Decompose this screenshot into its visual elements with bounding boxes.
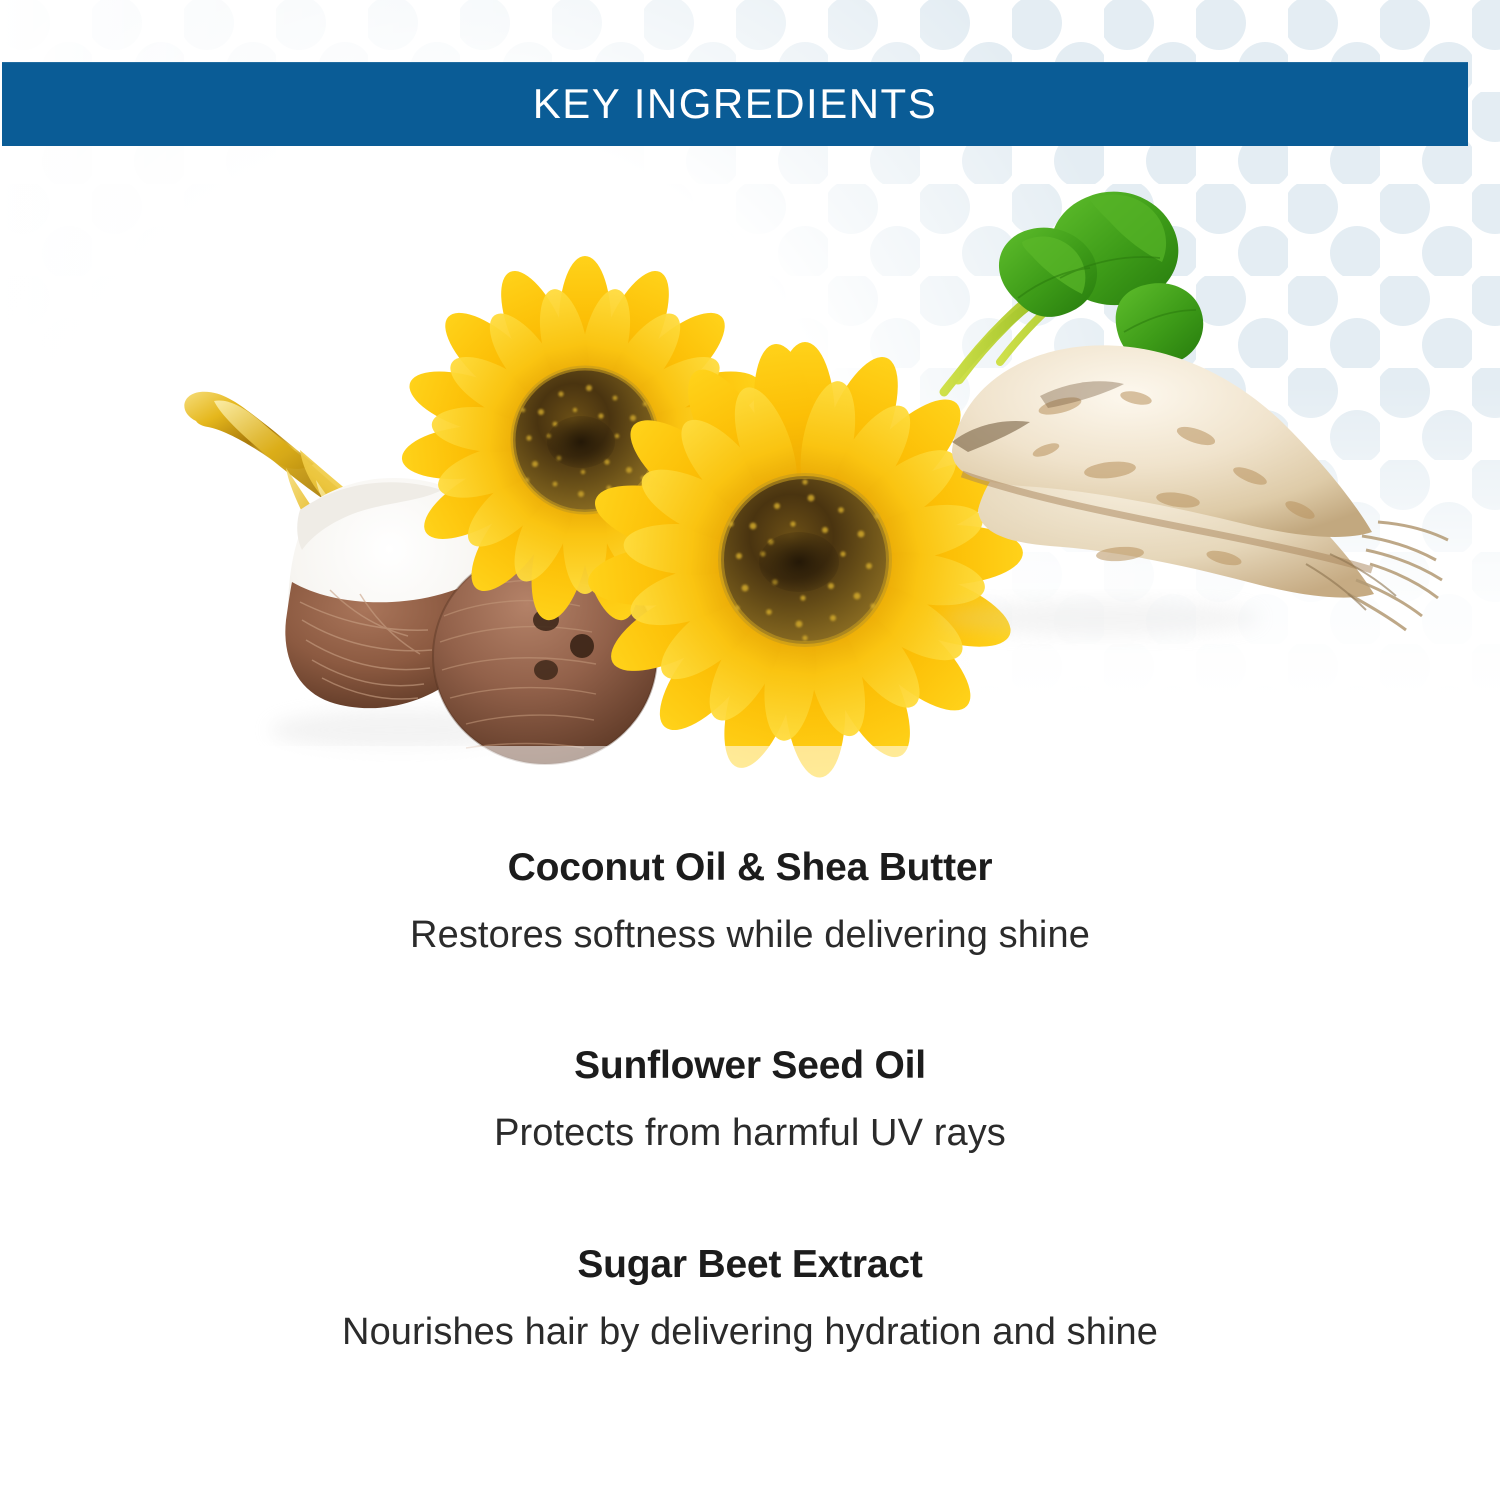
hero-ingredient-image: [0, 150, 1500, 830]
ingredient-description: Protects from harmful UV rays: [0, 1111, 1500, 1157]
banner-title: KEY INGREDIENTS: [533, 83, 937, 125]
ingredient-description: Restores softness while delivering shine: [0, 913, 1500, 959]
key-ingredients-banner: KEY INGREDIENTS: [2, 62, 1468, 146]
ingredient-name: Sugar Beet Extract: [0, 1243, 1500, 1288]
ingredient-description: Nourishes hair by delivering hydration a…: [0, 1310, 1500, 1356]
ingredient-name: Sunflower Seed Oil: [0, 1044, 1500, 1089]
ingredient-name: Coconut Oil & Shea Butter: [0, 846, 1500, 891]
ingredient-item-sugar-beet-extract: Sugar Beet Extract Nourishes hair by del…: [0, 1243, 1500, 1355]
sugar-beet-graphic: [940, 192, 1448, 636]
ingredient-list: Coconut Oil & Shea Butter Restores softn…: [0, 846, 1500, 1355]
ingredient-item-sunflower-seed-oil: Sunflower Seed Oil Protects from harmful…: [0, 1044, 1500, 1156]
ingredient-item-coconut-oil-shea-butter: Coconut Oil & Shea Butter Restores softn…: [0, 846, 1500, 958]
key-ingredients-panel: KEY INGREDIENTS: [0, 0, 1500, 1500]
